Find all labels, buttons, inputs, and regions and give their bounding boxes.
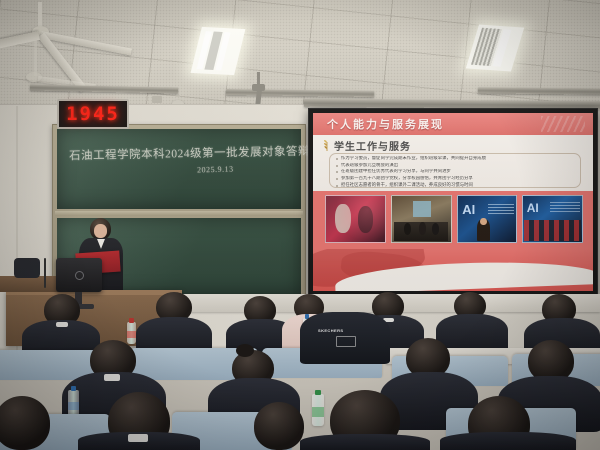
slide-bullet-box: 作为学习委员，督促同学完成期末作业，组织班级早课，共同提升自身成绩 代表班级参加… <box>329 153 581 188</box>
water-bottle <box>312 394 324 426</box>
curtain-rail-right <box>478 87 600 94</box>
ceiling-fan-icon <box>8 0 168 92</box>
water-bottle <box>127 322 136 344</box>
photo-performance <box>325 195 386 243</box>
bullet-text: 在班级团建中担任优秀代表的学习分享，与同学共同进步 <box>341 170 451 174</box>
presentation-slide: 个人能力与服务展现 学生工作与服务 作为学习委员，督促同学完成期末作业，组 <box>313 113 593 291</box>
photo-ai-lecture: AI <box>457 195 518 243</box>
slide-photo-strip: AI AI <box>325 195 583 243</box>
bullet-text: 作为学习委员，督促同学完成期末作业，组织班级早课，共同提升自身成绩 <box>341 157 486 161</box>
leaf-sprig-icon <box>323 140 331 151</box>
audience-shoulders <box>300 434 430 450</box>
slide-bullet: 担任社区志愿者的骨干，组织课外二课活动，养成良好的习惯与时间 <box>336 182 574 189</box>
slide-bullet: 参加第一百九十八期团学党校，分享校园感悟，共青团学习经历分享 <box>336 176 574 183</box>
blackboard-divider <box>55 211 303 216</box>
led-wall-clock: 1945 <box>57 99 129 129</box>
projection-screen: 个人能力与服务展现 学生工作与服务 作为学习委员，督促同学完成期末作业，组 <box>308 108 598 296</box>
slide-bullet: 作为学习委员，督促同学完成期末作业，组织班级早课，共同提升自身成绩 <box>336 156 574 163</box>
bullet-dot <box>336 178 338 180</box>
photo-caption: AI <box>527 201 539 215</box>
photo-group-award: AI <box>522 195 583 243</box>
photo-caption: AI <box>462 202 475 217</box>
wall-speaker <box>152 96 162 103</box>
slide-bullet: 代表班级参加元旦晚会的演出 <box>336 163 574 170</box>
bullet-text: 代表班级参加元旦晚会的演出 <box>341 164 398 168</box>
audience-hair-bun <box>236 344 254 357</box>
led-clock-digits: 1945 <box>66 105 120 124</box>
bullet-text: 担任社区志愿者的骨干，组织课外二课活动，养成良好的习惯与时间 <box>341 184 473 188</box>
audience-shoulders <box>440 432 576 450</box>
shirt-collar <box>128 434 148 442</box>
slide-content-area: 学生工作与服务 作为学习委员，督促同学完成期末作业，组织班级早课，共同提升自身成… <box>313 135 593 191</box>
classroom-scene: 石油工程学院本科2024级第一批发展对象答辩 2025.9.13 个人能力与服务… <box>0 0 600 450</box>
photo-classroom-meeting <box>391 195 452 243</box>
chair-back <box>14 258 40 278</box>
ceiling <box>0 0 600 112</box>
projector-mount-icon <box>252 72 266 106</box>
audience-shoulders <box>436 314 508 352</box>
podium-monitor[interactable] <box>56 258 102 292</box>
slide-ribbon-graphic <box>313 249 593 291</box>
jacket-logo-text: SKECHERS <box>318 328 343 333</box>
blackboard-date-text: 2025.9.13 <box>197 164 234 174</box>
title-band-stripes <box>541 116 585 132</box>
bullet-dot <box>336 165 338 167</box>
microphone-stand <box>44 258 46 288</box>
bullet-dot <box>336 158 338 160</box>
bullet-dot <box>336 185 338 187</box>
slide-title: 个人能力与服务展现 <box>327 116 444 132</box>
presenter-face <box>94 224 107 238</box>
slide-subtitle-row: 学生工作与服务 <box>323 138 411 153</box>
bullet-text: 参加第一百九十八期团学党校，分享校园感悟，共青团学习经历分享 <box>341 177 473 181</box>
bullet-dot <box>336 171 338 173</box>
slide-bullet: 在班级团建中担任优秀代表的学习分享，与同学共同进步 <box>336 169 574 176</box>
slide-title-band: 个人能力与服务展现 <box>313 113 593 135</box>
blackboard-heading-text: 石油工程学院本科2024级第一批发展对象答辩 <box>69 143 310 164</box>
audience-head <box>254 402 304 450</box>
shirt-collar <box>104 374 120 381</box>
audience-area: SKECHERS <box>0 292 600 450</box>
dell-logo-icon <box>75 271 84 280</box>
audience-skechers-jacket: SKECHERS <box>300 312 390 364</box>
blackboard-upper-panel: 石油工程学院本科2024级第一批发展对象答辩 2025.9.13 <box>57 129 301 209</box>
audience-head <box>0 396 50 450</box>
slide-subtitle: 学生工作与服务 <box>334 138 411 153</box>
